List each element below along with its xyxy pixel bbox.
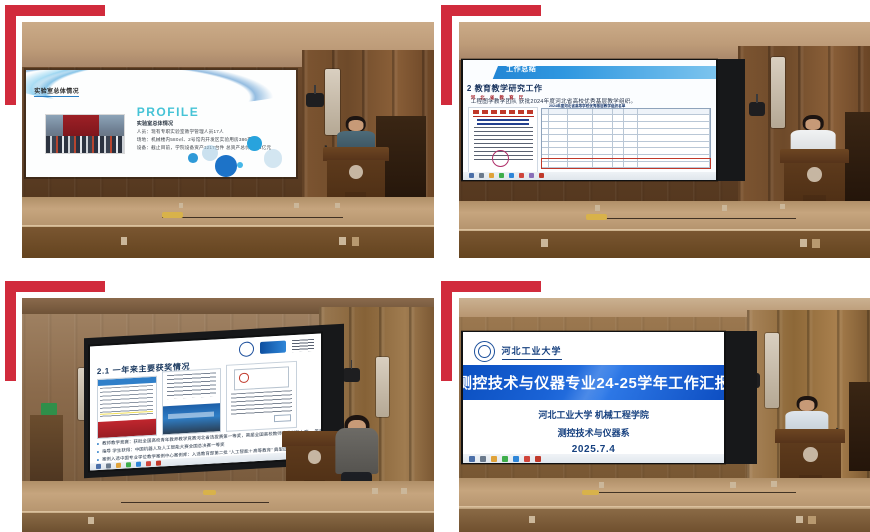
slide-line-2: 场地：机械楼内580㎡、2号馆内开发区实验用房386平米 (137, 137, 257, 143)
ceiling-camera (306, 93, 323, 107)
floor-marker-1 (599, 482, 605, 488)
table-cell (624, 142, 637, 149)
university-emblem-icon (239, 341, 254, 357)
table-cell (542, 115, 549, 122)
wall-speaker (765, 333, 779, 408)
table-cell (593, 135, 613, 142)
collage-cell-bottom-right[interactable]: 河北工业大学 测控技术与仪器专业24-25学年工作汇报 河北工业大学 机械工程学… (459, 298, 870, 532)
floor-marker-4 (121, 237, 128, 245)
slide-line-1: 人员：现有专职实验室教学管理人员17人 (137, 129, 224, 135)
decor-bubble-5 (202, 145, 218, 161)
taskbar-icon-powerpoint[interactable] (539, 173, 544, 178)
table-header-cell (638, 109, 710, 116)
camera-arm (314, 85, 316, 93)
table-cell (542, 129, 549, 136)
table-cell (568, 122, 593, 129)
bracket-vertical (5, 5, 16, 105)
photo-bottom-right: 河北工业大学 测控技术与仪器专业24-25学年工作汇报 河北工业大学 机械工程学… (459, 298, 870, 532)
floor-marker-5 (339, 237, 346, 245)
taskbar-icon-browser[interactable] (509, 173, 514, 178)
floor-marker-1 (372, 488, 378, 494)
taskbar-icon-explorer[interactable] (491, 456, 497, 462)
taskbar-icon-start[interactable] (469, 173, 474, 178)
slide-header-tab-label: 工作总结 (506, 66, 536, 79)
bracket-vertical (441, 5, 452, 105)
speaker-torso (335, 428, 378, 474)
taskbar-icon-mail[interactable] (146, 461, 151, 466)
table-cell (593, 148, 613, 155)
floor-equipment (582, 490, 598, 496)
decor-bubble-4 (237, 162, 243, 168)
table-cell (549, 142, 567, 149)
card-red-certificate (98, 418, 156, 437)
auditorium-room: 2.1 一年来主要获奖情况 (22, 298, 434, 532)
table-cell (638, 129, 710, 136)
slide-heading: 2 教育教学研究工作 (467, 83, 543, 94)
taskbar-icon-mail[interactable] (519, 173, 524, 178)
photo-top-right: 工作总结 2 教育教学研究工作 工程图学教学团队 获批2024年度河北省高校优秀… (459, 22, 870, 258)
table-cell (624, 115, 637, 122)
taskbar-icon-browser[interactable] (136, 462, 141, 467)
projection-screen-top-left: 实验室总体情况 PROFILE 实验室总体情况 人员：现有专职实验室教学管理人员… (26, 70, 296, 176)
slide-title: PROFILE (137, 105, 200, 119)
taskbar-icon-wechat[interactable] (126, 462, 131, 467)
table-cell (613, 129, 625, 136)
table-header-cell (542, 109, 549, 116)
table-cell (638, 122, 710, 129)
slide-header-band (463, 66, 716, 79)
photo-collage: 实验室总体情况 PROFILE 实验室总体情况 人员：现有专职实验室教学管理人员… (0, 0, 870, 532)
presentation-date: 2025.7.4 (463, 444, 724, 455)
taskbar-icon-search[interactable] (480, 456, 486, 462)
floor-marker-3 (335, 203, 340, 209)
table-cell (542, 142, 549, 149)
photo-bottom-left: 2.1 一年来主要获奖情况 (22, 298, 434, 532)
table-cell (542, 148, 549, 155)
taskbar-icon-app[interactable] (529, 173, 534, 178)
exit-sign (41, 403, 57, 415)
affiliation-line-1: 河北工业大学 机械工程学院 (463, 408, 724, 421)
side-doorway (30, 415, 63, 485)
slide-corner-label: 实验室总体情况 (34, 86, 79, 97)
floor-marker-5 (796, 516, 803, 523)
podium-top (775, 429, 845, 443)
floor-marker-3 (771, 481, 777, 487)
doc-official-seal (492, 150, 509, 167)
bracket-horizontal (5, 5, 105, 16)
table-cell (638, 142, 710, 149)
group-photo-thumbnail (45, 114, 125, 154)
table-cell (624, 122, 637, 129)
speaker-face (799, 400, 814, 411)
table-header-cell (613, 109, 625, 116)
decor-bubble-6 (264, 149, 283, 168)
slide-main-title: 测控技术与仪器专业24-25学年工作汇报 (463, 365, 724, 400)
table-cell (549, 148, 567, 155)
table-cell (613, 122, 625, 129)
floor-equipment (162, 212, 183, 218)
doc-red-rule (473, 116, 534, 117)
bracket-horizontal (5, 281, 105, 292)
table-cell (568, 135, 593, 142)
table-cell (638, 135, 710, 142)
table-cell (542, 122, 549, 129)
camera-body (343, 368, 359, 382)
achievement-card-3 (226, 361, 297, 431)
bracket-horizontal (441, 281, 541, 292)
podium-top (780, 149, 850, 163)
floor-marker-4 (541, 239, 548, 247)
government-document-image (468, 107, 538, 174)
doc-letterhead (473, 110, 533, 115)
floor-marker-2 (730, 482, 736, 488)
taskbar-icon-wechat[interactable] (499, 173, 504, 178)
table-cell (568, 115, 593, 122)
taskbar-icon-mail[interactable] (524, 456, 530, 462)
card-button-shape (274, 415, 291, 422)
os-taskbar[interactable] (463, 172, 716, 180)
wall-speaker (771, 57, 785, 128)
table-cell (638, 115, 710, 122)
podium-top (323, 147, 389, 161)
card-certificate (234, 366, 289, 390)
taskbar-icon-powerpoint[interactable] (535, 456, 541, 462)
table-cell (568, 142, 593, 149)
stage-cable (591, 218, 797, 219)
stage-floor (22, 197, 434, 228)
table-highlight-row (541, 158, 710, 168)
floor-marker-3 (88, 517, 94, 524)
slide-profile: 实验室总体情况 PROFILE 实验室总体情况 人员：现有专职实验室教学管理人员… (26, 70, 296, 176)
table-cell (549, 122, 567, 129)
slide-subtitle: 实验室总体情况 (137, 120, 173, 127)
partner-text-logo (292, 339, 314, 352)
table-cell (613, 135, 625, 142)
floor-marker-4 (529, 516, 536, 523)
table-cell (593, 115, 613, 122)
floor-marker-2 (401, 488, 407, 494)
table-cell (568, 129, 593, 136)
photo-top-left: 实验室总体情况 PROFILE 实验室总体情况 人员：现有专职实验室教学管理人员… (22, 22, 434, 258)
card-event-photo (162, 404, 220, 434)
stage-cable (582, 492, 796, 493)
card-paragraph (231, 391, 292, 416)
table-cell (542, 135, 549, 142)
taskbar-icon-wechat[interactable] (502, 456, 508, 462)
bracket-vertical (441, 281, 452, 381)
doc-agency-title: 河 北 省 教 育 厅 (471, 95, 525, 101)
table-cell (549, 129, 567, 136)
projection-screen-top-right: 工作总结 2 教育教学研究工作 工程图学教学团队 获批2024年度河北省高校优秀… (463, 60, 716, 180)
bracket-vertical (5, 281, 16, 381)
collage-cell-top-right[interactable]: 工作总结 2 教育教学研究工作 工程图学教学团队 获批2024年度河北省高校优秀… (459, 22, 870, 258)
floor-equipment (203, 490, 215, 495)
card-text-rows (167, 372, 215, 400)
speaker-face (806, 119, 821, 130)
university-logo-row: 河北工业大学 (474, 341, 562, 362)
taskbar-icon-start[interactable] (96, 464, 101, 469)
table-header-cell (624, 109, 637, 116)
achievement-card-2 (161, 368, 221, 435)
table-cell (593, 129, 613, 136)
stage-floor (22, 481, 434, 514)
floor-marker-6 (812, 239, 819, 247)
table-cell (624, 129, 637, 136)
stage-skirt (22, 227, 434, 258)
stage-skirt (459, 231, 870, 258)
table-cell (549, 135, 567, 142)
floor-marker-3 (780, 204, 785, 210)
camera-arm (756, 94, 758, 102)
university-emblem-icon (474, 341, 495, 362)
ceiling-camera (749, 102, 765, 116)
taskbar-icon-powerpoint[interactable] (156, 460, 161, 465)
taskbar-icon-explorer[interactable] (116, 463, 121, 468)
floor-marker-2 (294, 203, 299, 209)
floor-equipment (586, 214, 607, 220)
stage-cable (162, 217, 343, 218)
taskbar-icon-explorer[interactable] (489, 173, 494, 178)
table-cell (624, 135, 637, 142)
auditorium-room: 实验室总体情况 PROFILE 实验室总体情况 人员：现有专职实验室教学管理人员… (22, 22, 434, 258)
taskbar-icon-start[interactable] (469, 456, 475, 462)
bracket-horizontal (441, 5, 541, 16)
side-doorway (849, 382, 870, 471)
collage-cell-top-left[interactable]: 实验室总体情况 PROFILE 实验室总体情况 人员：现有专职实验室教学管理人员… (22, 22, 434, 258)
projection-screen-bottom-right: 河北工业大学 测控技术与仪器专业24-25学年工作汇报 河北工业大学 机械工程学… (463, 332, 724, 463)
doc-title-lines (477, 119, 529, 125)
floor-marker-1 (179, 203, 184, 209)
collage-cell-bottom-left[interactable]: 2.1 一年来主要获奖情况 (22, 298, 434, 532)
floor-marker-2 (722, 205, 727, 211)
camera-arm (351, 360, 353, 368)
auditorium-room: 工作总结 2 教育教学研究工作 工程图学教学团队 获批2024年度河北省高校优秀… (459, 22, 870, 258)
table-cell (613, 142, 625, 149)
speaker-top-right (791, 115, 836, 154)
slide-title-page: 河北工业大学 测控技术与仪器专业24-25学年工作汇报 河北工业大学 机械工程学… (463, 332, 724, 463)
table-cell (593, 122, 613, 129)
taskbar-icon-search[interactable] (479, 173, 484, 178)
table-cell (613, 115, 625, 122)
partner-logo-icon (260, 341, 286, 354)
table-cell (624, 148, 637, 155)
floor-marker-5 (800, 239, 807, 247)
speaker-face (348, 120, 363, 131)
decor-bubble-3 (188, 153, 198, 163)
achievement-card-1 (97, 376, 157, 438)
table-header-cell (593, 109, 613, 116)
os-taskbar[interactable] (463, 454, 724, 463)
table-header-cell (549, 109, 567, 116)
table-cell (593, 142, 613, 149)
floor-marker-1 (595, 205, 600, 211)
table-cell (568, 148, 593, 155)
camera-body (306, 93, 323, 107)
taskbar-icon-search[interactable] (106, 463, 111, 468)
stage-floor (459, 201, 870, 229)
slide-logos (239, 338, 314, 357)
table-cell (638, 148, 710, 155)
camera-body (749, 102, 765, 116)
ceiling-camera (343, 368, 359, 382)
floor-marker-6 (808, 516, 815, 524)
table-header-cell (568, 109, 593, 116)
floor-marker-6 (352, 237, 359, 246)
auditorium-room: 河北工业大学 测控技术与仪器专业24-25学年工作汇报 河北工业大学 机械工程学… (459, 298, 870, 532)
affiliation-line-2: 测控技术与仪器系 (463, 426, 724, 439)
table-cell (613, 148, 625, 155)
taskbar-icon-browser[interactable] (513, 456, 519, 462)
stage-skirt (22, 513, 434, 532)
university-name: 河北工业大学 (502, 344, 562, 360)
wall-speaker-right (376, 357, 388, 418)
decor-bubble-2 (215, 155, 237, 176)
slide-work-summary: 工作总结 2 教育教学研究工作 工程图学教学团队 获批2024年度河北省高校优秀… (463, 60, 716, 180)
table-cell (549, 115, 567, 122)
stage-cable (121, 502, 269, 503)
slide-affiliation-block: 河北工业大学 机械工程学院 测控技术与仪器系 2025.7.4 (463, 408, 724, 455)
